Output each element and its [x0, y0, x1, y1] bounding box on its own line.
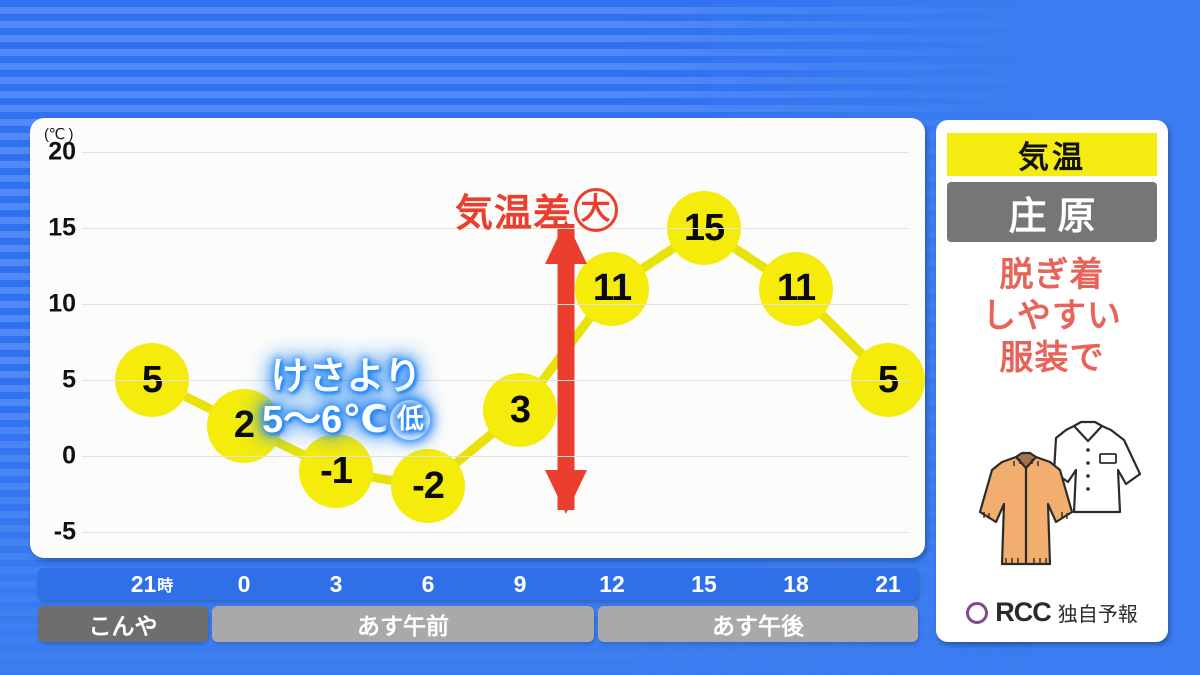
y-gridline — [82, 304, 909, 305]
temperature-data-point: -1 — [299, 434, 373, 508]
clothing-illustration — [948, 408, 1156, 583]
y-axis-tick-label: 5 — [30, 366, 76, 395]
y-axis-tick-label: 10 — [30, 290, 76, 319]
diff-label-text: 気温差 — [455, 182, 572, 237]
y-gridline — [82, 456, 909, 457]
time-axis-tick: 3 — [330, 568, 343, 600]
y-gridline — [82, 380, 909, 381]
circle-ring-icon — [966, 602, 988, 624]
time-axis-tick-value: 12 — [599, 571, 625, 598]
time-axis-tick: 12 — [599, 568, 625, 600]
y-axis-tick-label: -5 — [30, 518, 76, 547]
time-axis-tick-value: 18 — [783, 571, 809, 598]
y-gridline — [82, 532, 909, 533]
y-gridline — [82, 152, 909, 153]
time-axis-tick-value: 15 — [691, 571, 717, 598]
time-axis-tick-value: 21 — [131, 571, 157, 598]
temperature-data-point: 3 — [483, 373, 557, 447]
temperature-data-point: 11 — [575, 252, 649, 326]
sidebar-location-banner: 庄原 — [947, 182, 1157, 242]
time-axis-tick-value: 9 — [514, 571, 527, 598]
sidebar-advice-line-1: 脱ぎ着 — [936, 255, 1168, 296]
morning-comparison-circled-char: 低 — [390, 400, 430, 440]
time-axis-tick-value: 3 — [330, 571, 343, 598]
time-axis-tick-suffix: 時 — [157, 572, 173, 596]
temperature-difference-label: 気温差 大 — [455, 182, 618, 237]
temperature-data-point: 11 — [759, 252, 833, 326]
sidebar-advice-text: 脱ぎ着しやすい服装で — [936, 255, 1168, 379]
sidebar-title-banner: 気温 — [947, 133, 1157, 176]
period-label-2: あす午前 — [212, 606, 594, 642]
time-axis-bar: 21時036912151821 — [38, 568, 918, 600]
period-label-1: こんや — [38, 606, 208, 642]
time-axis-tick-value: 21 — [875, 571, 901, 598]
morning-comparison-line1: けさより — [262, 356, 430, 399]
period-label-3: あす午後 — [598, 606, 918, 642]
y-axis-tick-label: 0 — [30, 442, 76, 471]
time-axis-tick-value: 0 — [238, 571, 251, 598]
sidebar-advice-line-3: 服装で — [936, 338, 1168, 379]
time-axis-tick: 18 — [783, 568, 809, 600]
time-axis-tick: 0 — [238, 568, 251, 600]
time-axis-tick: 9 — [514, 568, 527, 600]
morning-comparison-annotation: けさより 5〜6℃ 低 — [262, 356, 430, 441]
time-axis-tick: 21 — [875, 568, 901, 600]
period-bar: こんやあす午前あす午後 — [38, 606, 918, 642]
morning-comparison-line2: 5〜6℃ — [262, 399, 388, 442]
sidebar-card: 気温 庄原 脱ぎ着しやすい服装で — [936, 120, 1168, 642]
rcc-logo-subtitle: 独自予報 — [1058, 598, 1138, 627]
diff-label-circled-char: 大 — [574, 188, 618, 232]
weather-forecast-screen: (℃ ) 52-1-231115115 20151050-5 気温差 大 けさよ… — [0, 0, 1200, 675]
temperature-data-point: -2 — [391, 449, 465, 523]
y-axis-tick-label: 20 — [30, 138, 76, 167]
y-axis-tick-label: 15 — [30, 214, 76, 243]
time-axis-tick: 15 — [691, 568, 717, 600]
sidebar-advice-line-2: しやすい — [936, 296, 1168, 337]
time-axis-tick-value: 6 — [422, 571, 435, 598]
time-axis-tick: 21時 — [131, 568, 174, 600]
time-axis-tick: 6 — [422, 568, 435, 600]
rcc-logo-text: RCC — [995, 597, 1051, 628]
rcc-logo: RCC 独自予報 — [936, 597, 1168, 628]
